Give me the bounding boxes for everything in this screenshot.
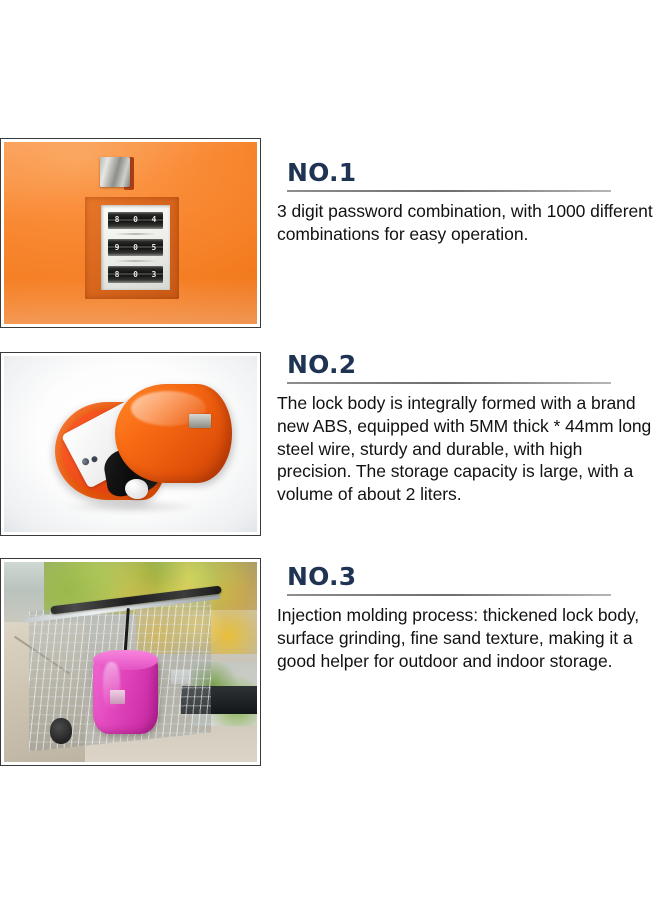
dial-digit: 0 [133, 244, 138, 252]
combination-dial-row: 9 0 5 [108, 239, 163, 257]
dial-digit: 4 [152, 216, 157, 224]
dial-digit: 0 [133, 271, 138, 279]
dial-digit: 0 [133, 216, 138, 224]
heading-divider [287, 190, 611, 192]
lid-keypad-icon [189, 414, 212, 428]
feature-body-text: Injection molding process: thickened loc… [277, 604, 659, 672]
dial-digit: 8 [115, 216, 120, 224]
feature-body-text: 3 digit password combination, with 1000 … [277, 200, 659, 246]
feature-sheet: 8 0 4 9 0 5 8 0 [0, 0, 660, 900]
steel-shackle-icon [100, 157, 130, 187]
feature-text-column: NO.1 3 digit password combination, with … [261, 138, 660, 246]
dial-digit: 3 [152, 271, 157, 279]
combination-dial-well: 8 0 4 9 0 5 8 0 [101, 205, 170, 291]
feature-heading: NO.3 [287, 564, 659, 589]
dial-digit: 8 [115, 271, 120, 279]
feature-heading: NO.1 [287, 160, 659, 185]
keypad-bezel: 8 0 4 9 0 5 8 0 [85, 197, 179, 299]
feature-row: NO.2 The lock body is integrally formed … [0, 352, 660, 536]
heading-divider [287, 382, 611, 384]
feature-text-column: NO.3 Injection molding process: thickene… [261, 558, 660, 672]
pink-lock-bucket-lid [93, 650, 159, 670]
combination-dial-row: 8 0 3 [108, 266, 163, 284]
combination-dial-row: 8 0 4 [108, 212, 163, 230]
open-orange-capsule-photo [0, 352, 261, 536]
feature-row: NO.3 Injection molding process: thickene… [0, 558, 660, 766]
photo-canvas [4, 356, 257, 532]
dial-digit: 5 [152, 244, 157, 252]
drop-shadow [65, 499, 197, 515]
dial-divider [115, 233, 157, 235]
photo-canvas: 8 0 4 9 0 5 8 0 [4, 142, 257, 324]
feature-text-column: NO.2 The lock body is integrally formed … [261, 352, 660, 506]
dial-digit: 9 [115, 244, 120, 252]
shopping-trolley-pink-bucket-photo [0, 558, 261, 766]
camera-lens-icon [81, 457, 90, 466]
heading-divider [287, 594, 611, 596]
feature-row: 8 0 4 9 0 5 8 0 [0, 138, 660, 328]
orange-lock-keypad-photo: 8 0 4 9 0 5 8 0 [0, 138, 261, 328]
trolley-wheel [50, 718, 73, 744]
bucket-keypad-icon [110, 690, 125, 704]
feature-heading: NO.2 [287, 352, 659, 377]
earbud-icon [125, 479, 148, 498]
photo-canvas [4, 562, 257, 762]
feature-body-text: The lock body is integrally formed with … [277, 392, 659, 506]
dial-divider [115, 260, 157, 262]
